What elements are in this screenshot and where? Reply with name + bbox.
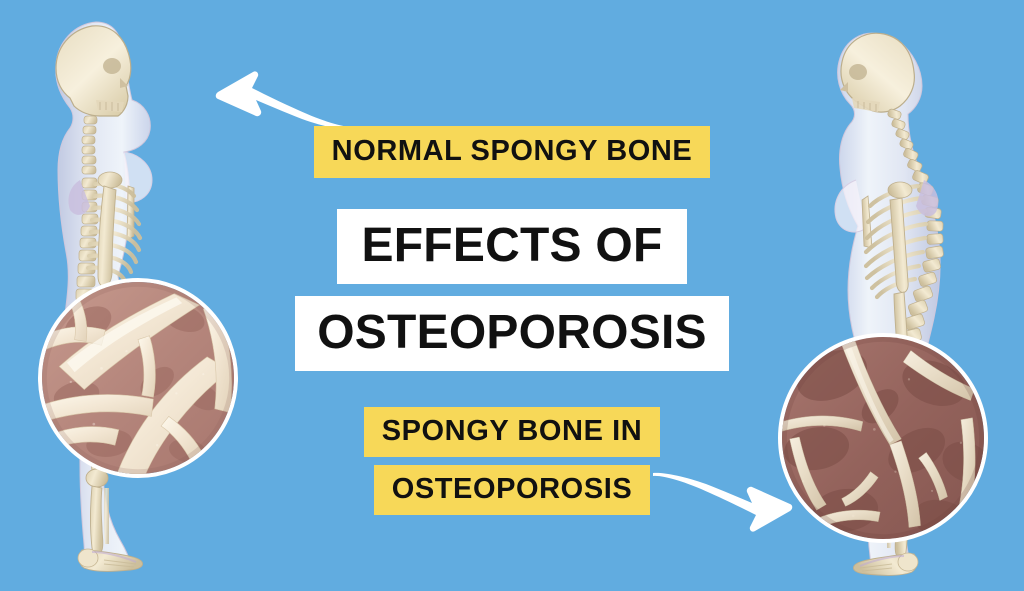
- inset-normal-spongy-bone: [38, 278, 238, 478]
- osteoporotic-spongy-bone-illustration: [782, 337, 984, 539]
- caption-normal-spongy-bone: NORMAL SPONGY BONE: [314, 126, 711, 178]
- inset-osteoporotic-spongy-bone: [778, 333, 988, 543]
- caption-osteoporosis: OSTEOPOROSIS: [374, 465, 651, 515]
- title-line-2: OSTEOPOROSIS: [295, 296, 729, 371]
- text-block: NORMAL SPONGY BONE EFFECTS OF OSTEOPOROS…: [256, 0, 768, 591]
- normal-spongy-bone-illustration: [42, 282, 234, 474]
- title-line-1: EFFECTS OF: [337, 209, 686, 284]
- infographic-poster: NORMAL SPONGY BONE EFFECTS OF OSTEOPOROS…: [0, 0, 1024, 591]
- caption-spongy-bone-in: SPONGY BONE IN: [364, 407, 661, 457]
